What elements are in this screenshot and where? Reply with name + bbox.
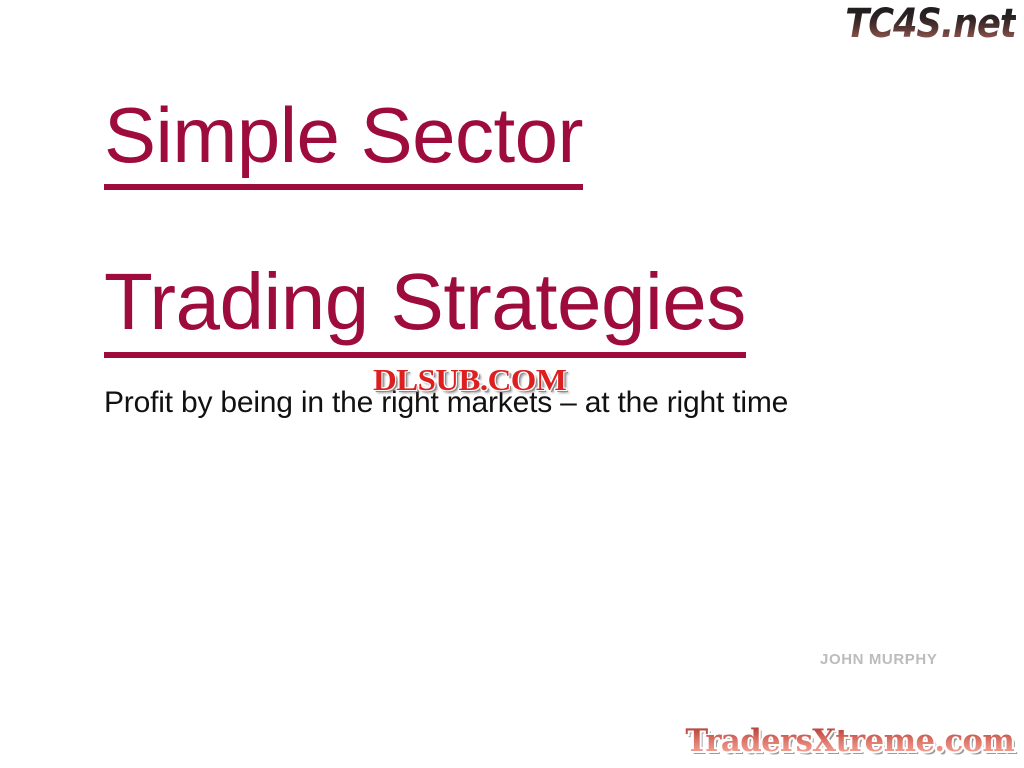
- tradersxtreme-com-logo: TradersXtreme.com TradersXtreme.com Trad…: [685, 724, 1014, 760]
- title-row-first: Simple Sector: [104, 96, 944, 190]
- tradersxtreme-logo-wrap: TradersXtreme.com TradersXtreme.com Trad…: [685, 724, 1014, 760]
- tc4s-net-logo: TC4S.net: [846, 4, 1016, 44]
- presentation-slide: TC4S.net Simple Sector Trading Strategie…: [0, 0, 1024, 768]
- tradersxtreme-logo-face: TradersXtreme.com: [685, 723, 1014, 759]
- slide-title-line-2: Trading Strategies: [104, 262, 746, 358]
- slide-title-line-1: Simple Sector: [104, 96, 583, 190]
- title-row-second: Trading Strategies: [104, 262, 944, 358]
- title-block: Simple Sector Trading Strategies: [104, 96, 944, 358]
- author-credit: JOHN MURPHY: [820, 651, 937, 668]
- dlsub-com-watermark: DLSUB.COM: [373, 362, 566, 398]
